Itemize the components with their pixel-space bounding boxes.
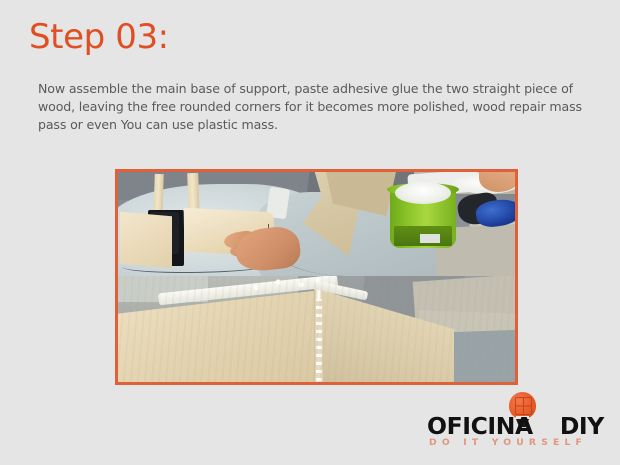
brand-name-second: DIY (560, 412, 604, 440)
brand-name: OFICINADIY (427, 414, 613, 438)
brand-name-first: OFICINA (427, 412, 533, 440)
glue-bead-seam (316, 298, 322, 382)
brand-logo: OFICINADIY DO IT YOURSELF (427, 392, 613, 454)
bucket-barcode (420, 234, 440, 243)
slide-canvas: Step 03: Now assemble the main base of s… (0, 0, 620, 465)
photo-panel-top (118, 172, 515, 282)
step-description: Now assemble the main base of support, p… (38, 80, 590, 135)
photo-panel-bottom (118, 276, 515, 382)
page-title: Step 03: (29, 19, 169, 56)
photo-frame (115, 169, 518, 385)
brand-tagline: DO IT YOURSELF (429, 437, 613, 448)
photo-composite (118, 172, 515, 382)
adhesive-paste (395, 182, 451, 204)
